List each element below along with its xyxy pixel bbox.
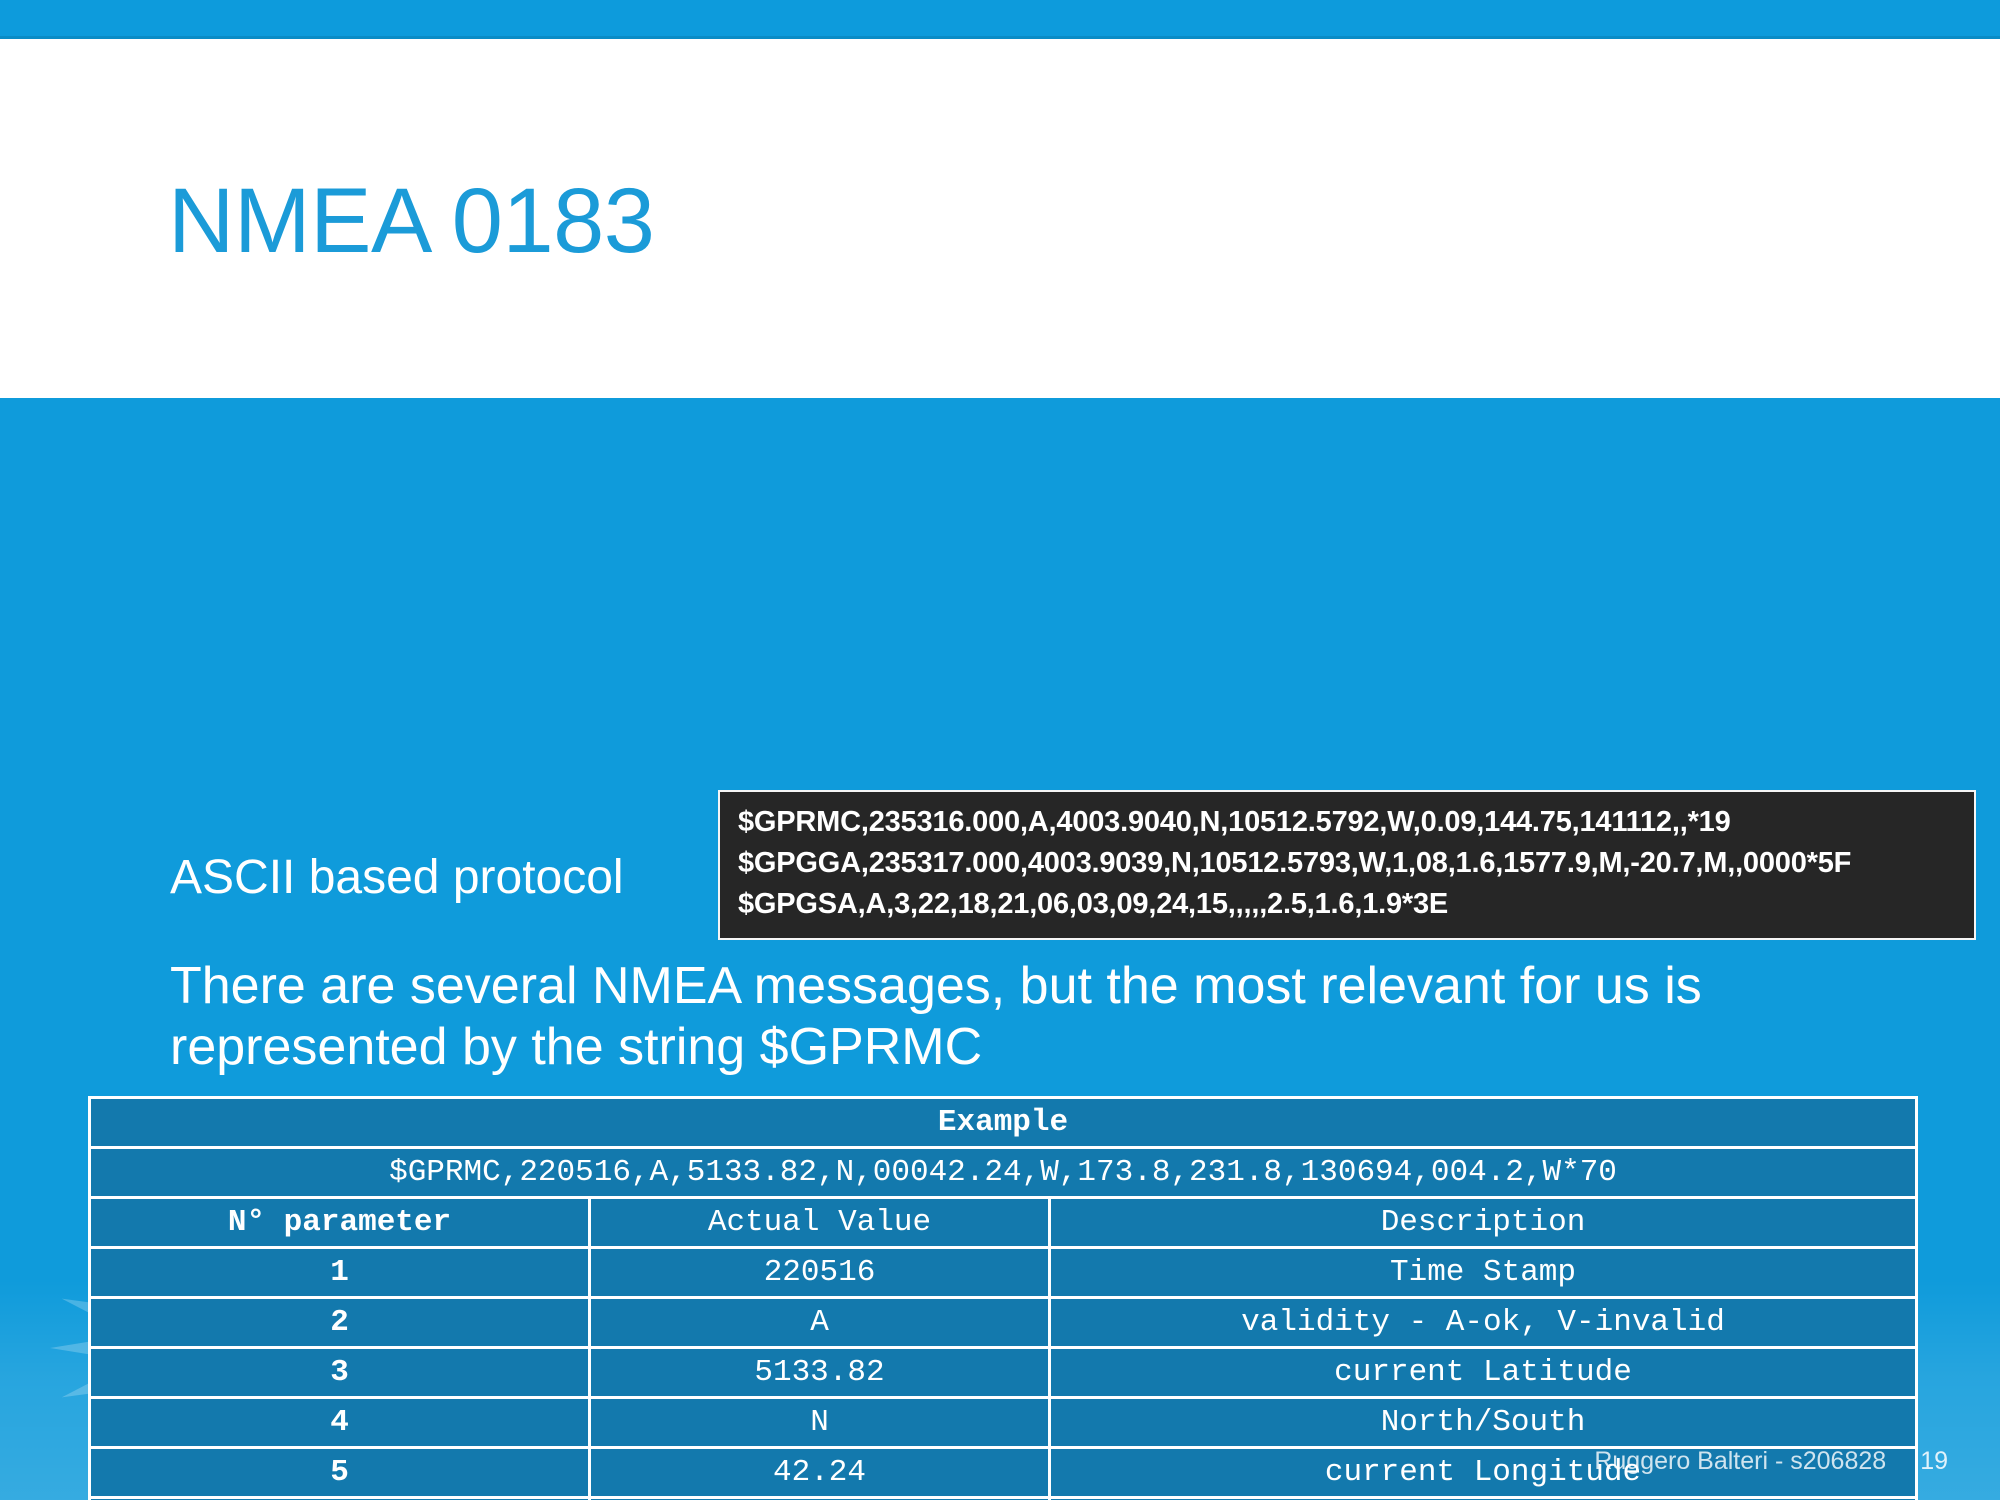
table-row: 1 220516 Time Stamp	[91, 1249, 1915, 1299]
code-line-gprmc: $GPRMC,235316.000,A,4003.9040,N,10512.57…	[738, 802, 1960, 843]
nmea-parameter-table-container: Example $GPRMC,220516,A,5133.82,N,00042.…	[88, 1096, 1912, 1500]
example-string-cell: $GPRMC,220516,A,5133.82,N,00042.24,W,173…	[91, 1149, 1915, 1199]
nmea-sample-code-box: $GPRMC,235316.000,A,4003.9040,N,10512.57…	[718, 790, 1976, 940]
code-line-gpgga: $GPGGA,235317.000,4003.9039,N,10512.5793…	[738, 843, 1960, 884]
slide-body: SEATRACKER.RU ASCII based protocol $GPRM…	[0, 398, 2000, 1500]
slide-canvas: NMEA 0183	[0, 0, 2000, 1500]
table-row-example-string: $GPRMC,220516,A,5133.82,N,00042.24,W,173…	[91, 1149, 1915, 1199]
code-line-gpgsa: $GPGSA,A,3,22,18,21,06,03,09,24,15,,,,,2…	[738, 884, 1960, 925]
table-row: 3 5133.82 current Latitude	[91, 1349, 1915, 1399]
title-region: NMEA 0183	[0, 39, 2000, 398]
footer-page-number: 19	[1920, 1447, 1948, 1476]
ascii-protocol-label: ASCII based protocol	[170, 850, 624, 905]
cell-description: current Latitude	[1051, 1349, 1915, 1399]
cell-param-number: 5	[91, 1449, 591, 1499]
cell-param-number: 1	[91, 1249, 591, 1299]
intro-paragraph: There are several NMEA messages, but the…	[170, 956, 1910, 1079]
cell-description: Time Stamp	[1051, 1249, 1915, 1299]
cell-param-number: 3	[91, 1349, 591, 1399]
column-header-actual-value: Actual Value	[591, 1199, 1051, 1249]
cell-description: North/South	[1051, 1399, 1915, 1449]
table-row-example-header: Example	[91, 1099, 1915, 1149]
column-header-parameter-number: N° parameter	[91, 1199, 591, 1249]
cell-actual-value: 5133.82	[591, 1349, 1051, 1399]
cell-param-number: 4	[91, 1399, 591, 1449]
top-accent-band	[0, 0, 2000, 36]
page-title: NMEA 0183	[168, 175, 654, 267]
cell-actual-value: N	[591, 1399, 1051, 1449]
example-header-cell: Example	[91, 1099, 1915, 1149]
nmea-parameter-table: Example $GPRMC,220516,A,5133.82,N,00042.…	[88, 1096, 1918, 1500]
table-row: 2 A validity - A-ok, V-invalid	[91, 1299, 1915, 1349]
cell-actual-value: 220516	[591, 1249, 1051, 1299]
table-row-column-headers: N° parameter Actual Value Description	[91, 1199, 1915, 1249]
cell-actual-value: 42.24	[591, 1449, 1051, 1499]
cell-param-number: 2	[91, 1299, 591, 1349]
slide-footer: Ruggero Balteri - s206828 19	[1594, 1447, 1948, 1476]
cell-actual-value: A	[591, 1299, 1051, 1349]
column-header-description: Description	[1051, 1199, 1915, 1249]
table-row: 4 N North/South	[91, 1399, 1915, 1449]
cell-description: validity - A-ok, V-invalid	[1051, 1299, 1915, 1349]
footer-author: Ruggero Balteri - s206828	[1594, 1447, 1886, 1476]
